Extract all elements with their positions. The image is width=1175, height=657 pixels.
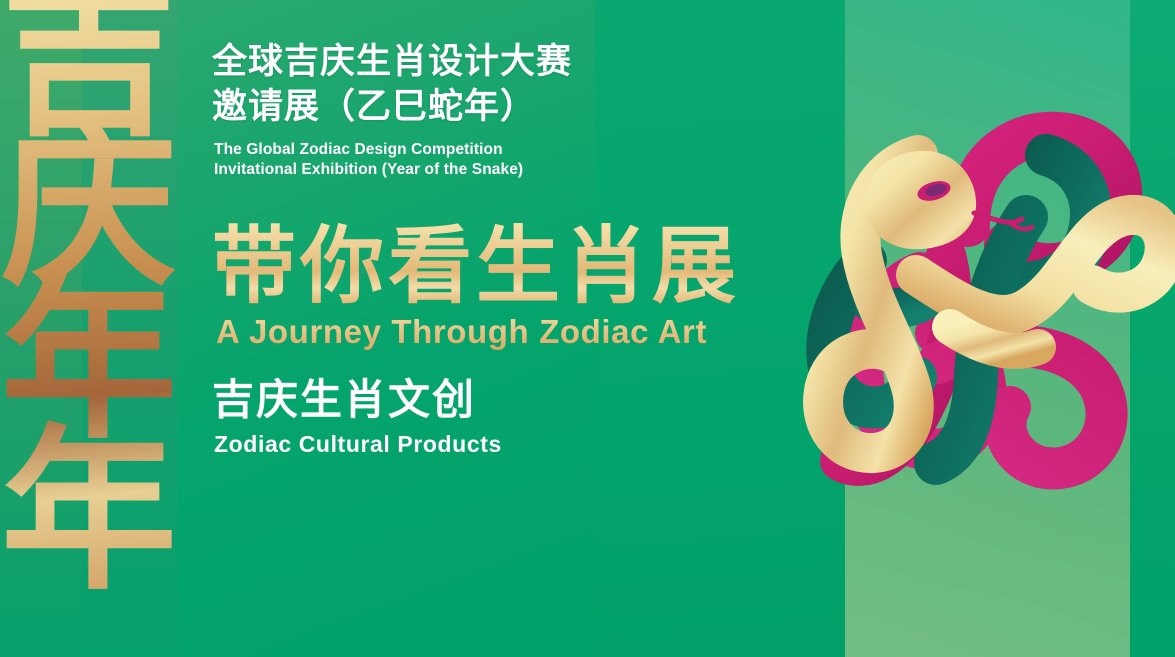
main-title-cn: 带你看生肖展	[212, 223, 772, 310]
vertical-gold-calligraphy: 吉 庆 年 年	[0, 0, 184, 657]
header-cn-line-1: 全球吉庆生肖设计大赛	[212, 40, 772, 85]
subtitle-en: Zodiac Cultural Products	[214, 431, 772, 458]
main-title-en: A Journey Through Zodiac Art	[216, 313, 772, 351]
header-en-line-1: The Global Zodiac Design Competition	[214, 140, 772, 159]
header-cn-line-2: 邀请展（乙巳蛇年）	[212, 85, 772, 130]
header-en-group: The Global Zodiac Design Competition Inv…	[212, 140, 772, 180]
vertical-char-4: 年	[1, 436, 177, 587]
snake-ribbon-icon	[770, 95, 1175, 495]
header-cn-group: 全球吉庆生肖设计大赛 邀请展（乙巳蛇年）	[212, 40, 772, 130]
poster-canvas: 吉 庆 年 年 全球吉庆生肖设计大赛 邀请展（乙巳蛇年） The Global …	[0, 0, 1175, 657]
subtitle-cn: 吉庆生肖文创	[212, 377, 772, 423]
text-block: 全球吉庆生肖设计大赛 邀请展（乙巳蛇年） The Global Zodiac D…	[212, 40, 772, 458]
header-en-line-2: Invitational Exhibition (Year of the Sna…	[214, 160, 772, 179]
